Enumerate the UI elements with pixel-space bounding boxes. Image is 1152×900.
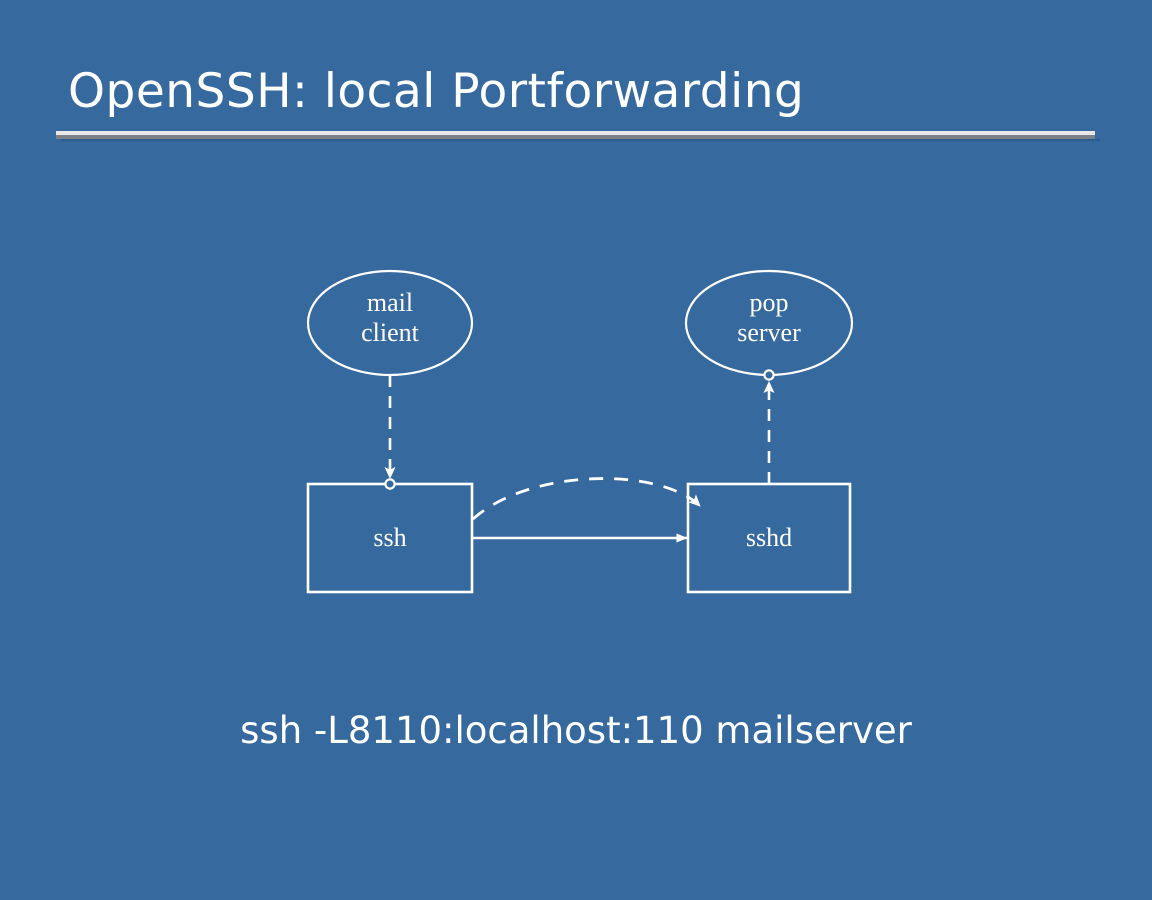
endpoint-marker-pop-server-bottom — [764, 370, 773, 379]
node-sshd — [688, 484, 850, 592]
node-ssh — [308, 484, 472, 592]
edge-ssh-to-sshd-tunnel — [473, 479, 700, 519]
network-diagram — [0, 0, 1152, 900]
node-pop-server — [686, 271, 852, 375]
command-caption: ssh -L8110:localhost:110 mailserver — [0, 707, 1152, 755]
endpoint-marker-ssh-top — [385, 479, 394, 488]
slide: OpenSSH: local Portforwarding — [0, 0, 1152, 900]
node-mail-client — [308, 271, 472, 375]
